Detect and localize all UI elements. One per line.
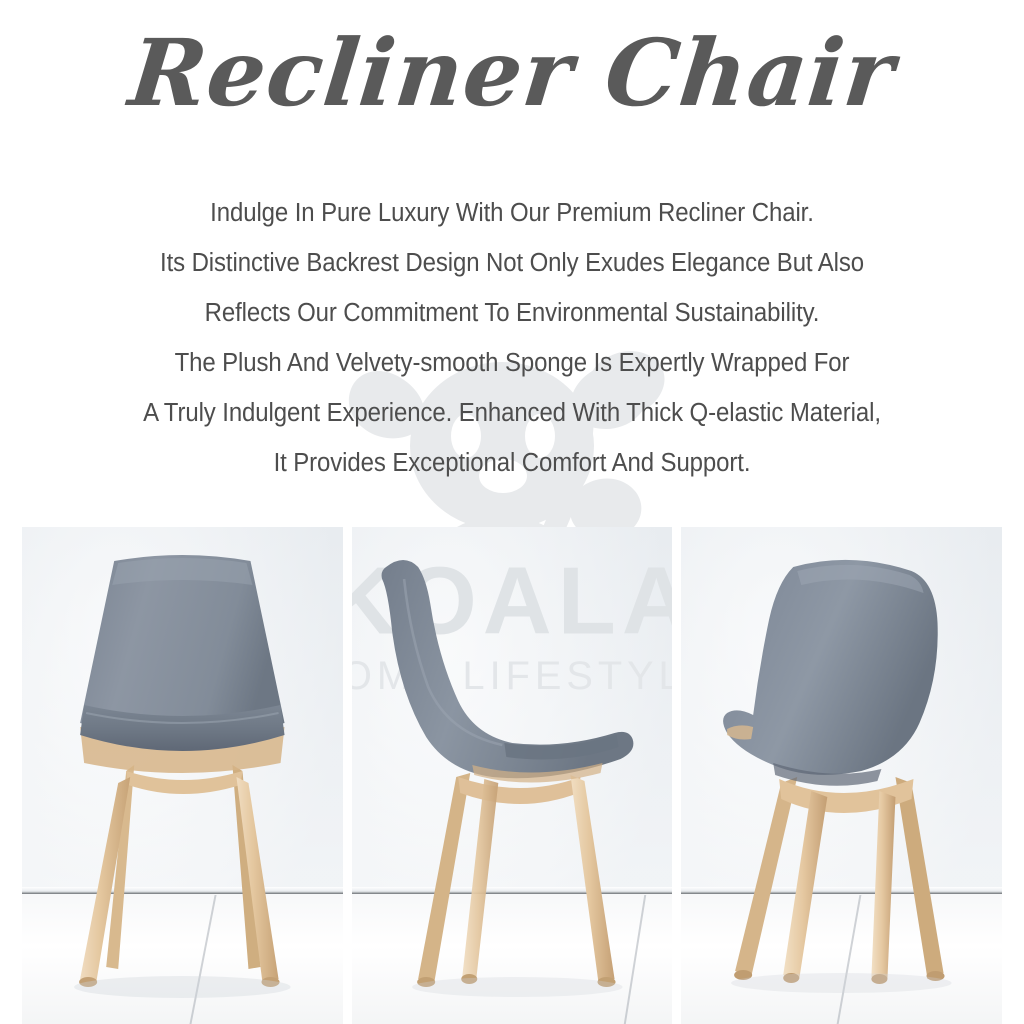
page-title: Recliner Chair <box>125 24 899 123</box>
description-line-1: Indulge In Pure Luxury With Our Premium … <box>31 188 994 238</box>
product-photo-front-view <box>22 527 343 1024</box>
title-block: Recliner Chair <box>0 24 1024 123</box>
chair-illustration-back <box>681 527 1002 1024</box>
description-line-2: Its Distinctive Backrest Design Not Only… <box>31 238 994 288</box>
description-line-6: It Provides Exceptional Comfort And Supp… <box>31 438 994 488</box>
product-image-gallery: KOALA HOME LIFESTYLE <box>22 527 1002 1024</box>
description-block: Indulge In Pure Luxury With Our Premium … <box>0 188 1024 488</box>
description-line-5: A Truly Indulgent Experience. Enhanced W… <box>31 388 994 438</box>
description-line-3: Reflects Our Commitment To Environmental… <box>31 288 994 338</box>
product-photo-side-view: KOALA HOME LIFESTYLE <box>352 527 673 1024</box>
chair-illustration-side <box>352 527 673 1024</box>
description-line-4: The Plush And Velvety-smooth Sponge Is E… <box>31 338 994 388</box>
product-photo-back-view <box>681 527 1002 1024</box>
chair-illustration-front <box>22 527 343 1024</box>
product-infographic-page: Recliner Chair Indulge In Pure Luxury Wi… <box>0 0 1024 1024</box>
